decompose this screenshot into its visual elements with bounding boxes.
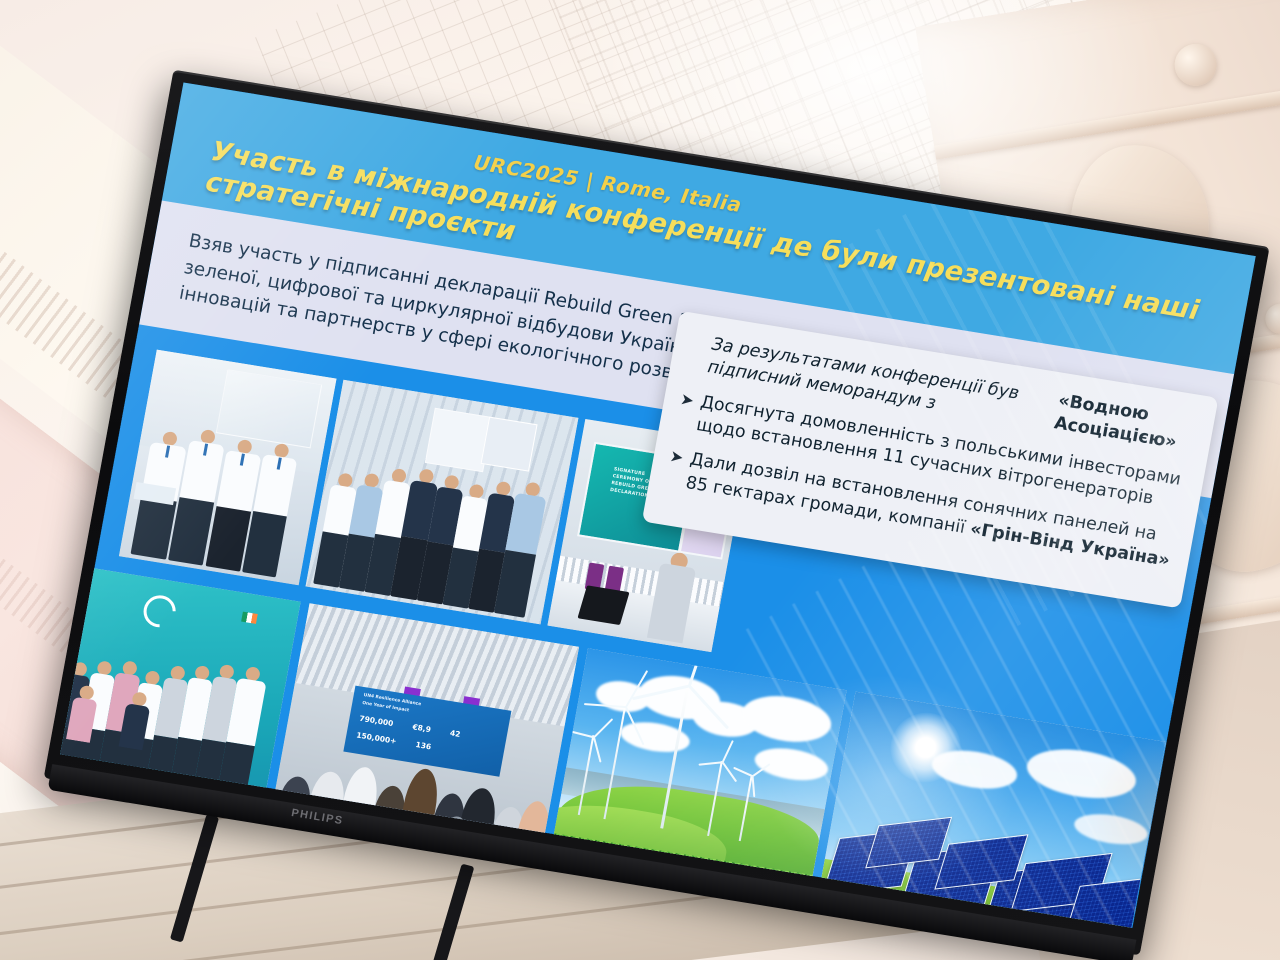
solar-farm-photo (816, 692, 1166, 928)
tv-bezel: URC2025 | Rome, Italia Участь в міжнарод… (44, 70, 1270, 956)
stage-stat-2: €8,9 (412, 723, 432, 735)
chevron-right-icon: ➤ (674, 388, 696, 436)
stage-stat-1: 790,000 (359, 714, 394, 728)
card-item-1-bold: «Водною Асоціацією» (1052, 390, 1198, 458)
screenshot-root: URC2025 | Rome, Italia Участь в міжнарод… (0, 0, 1280, 960)
italy-flag-icon (241, 611, 258, 623)
stage-stat-3: 42 (449, 729, 461, 740)
chevron-right-icon: ➤ (664, 445, 686, 493)
delegation-group-photo (305, 380, 578, 625)
expo-team-photo (119, 350, 336, 586)
